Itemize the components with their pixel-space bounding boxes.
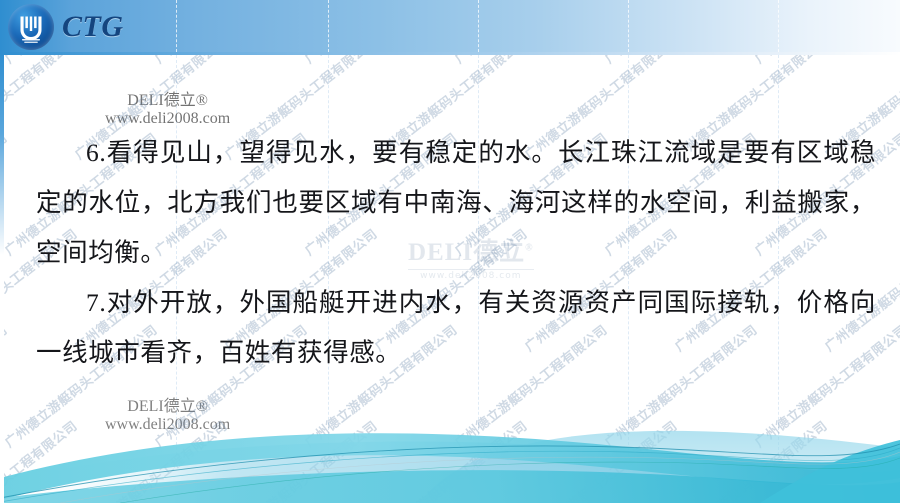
watermark-text: 广州德立游艇码头工程有限公司: [220, 416, 381, 503]
brand-logo: CTG: [8, 3, 154, 51]
ctg-three-gorges-logo-icon: [8, 4, 54, 50]
watermark-text: 广州德立游艇码头工程有限公司: [370, 416, 531, 503]
brand-watermark-url-2: www.deli2008.com: [105, 110, 230, 128]
paragraph-7: 7.对外开放，外国船艇开进内水，有关资源资产同国际接轨，价格向一线城市看齐，百姓…: [36, 278, 876, 378]
header-divider-2: [328, 0, 329, 52]
brand-watermark-lower: DELI德立® www.deli2008.com: [105, 392, 230, 434]
slide-body: 6.看得见山，望得见水，要有稳定的水。长江珠江流域是要有区域稳定的水位，北方我们…: [36, 128, 876, 378]
watermark-text: 广州德立游艇码头工程有限公司: [70, 416, 231, 503]
brand-watermark-url-3: www.deli2008.com: [105, 416, 230, 434]
header-divider-4: [628, 0, 629, 52]
bottom-wave-ribbon: [0, 378, 900, 503]
left-accent-strip: [0, 52, 4, 503]
brand-watermark-text-3: DELI德立: [127, 398, 195, 415]
watermark-text: 广州德立游艇码头工程有限公司: [520, 416, 681, 503]
header-divider-3: [478, 0, 479, 52]
registered-mark-icon-2: ®: [196, 92, 208, 109]
watermark-text: 广州德立游艇码头工程有限公司: [670, 416, 831, 503]
header-divider-1: [176, 0, 177, 52]
brand-watermark-text-2: DELI德立: [127, 92, 195, 109]
paragraph-6: 6.看得见山，望得见水，要有稳定的水。长江珠江流域是要有区域稳定的水位，北方我们…: [36, 128, 876, 278]
brand-watermark-upper: DELI德立® www.deli2008.com: [105, 86, 230, 128]
watermark-text: 广州德立游艇码头工程有限公司: [0, 416, 81, 503]
watermark-text: 广州德立游艇码头工程有限公司: [820, 416, 900, 503]
registered-mark-icon-3: ®: [196, 398, 208, 415]
header-divider-5: [778, 0, 779, 52]
slide-canvas: CTG 广州德立游艇码头工程有限公司广州德立游艇码头工程有限公司广州德立游艇码头…: [0, 0, 900, 503]
brand-name: CTG: [62, 12, 124, 42]
header-underline: [0, 52, 900, 55]
